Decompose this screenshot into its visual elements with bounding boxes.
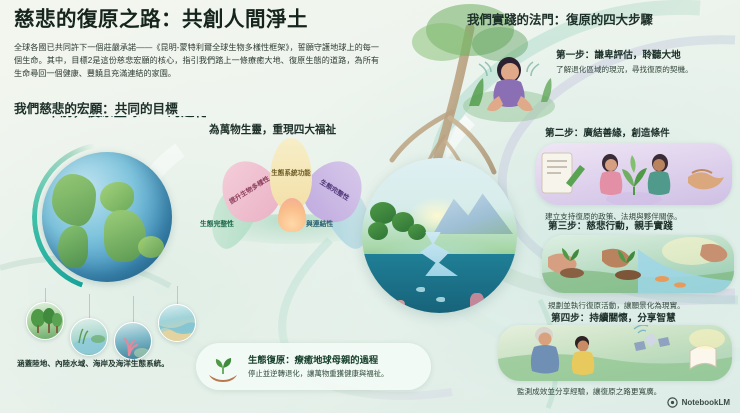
tree-icon [408, 224, 426, 240]
step-2-title: 第二步：廣結善緣，創造條件 [545, 125, 740, 139]
step-1: 第一步：謙卑評估，聆聽大地 了解退化區域的現況，尋找復原的契機。 [556, 47, 740, 75]
forest-cluster [366, 198, 432, 250]
petal-center-label: 生態系統功能 [271, 170, 311, 178]
petal-bottom-right-label: 與連結性 [306, 218, 333, 228]
restored-ecosystem-orb-illustration [362, 158, 517, 313]
restoration-definition-card: 生態復原：療癒地球母親的過程 停止並逆轉退化，讓萬物重獲健康與福祉。 [196, 343, 431, 390]
right-section-heading: 我們實踐的法門：復原的四大步驟 [467, 10, 653, 28]
page-title: 慈悲的復原之路：共創人間淨土 [14, 8, 444, 33]
fish-icon [436, 297, 445, 302]
connector-line [133, 296, 134, 324]
hands-planting-seedlings-river-illustration [542, 235, 734, 293]
step-4-caption: 監測成效並分享經驗，讓復原之路更寬廣。 [517, 383, 740, 397]
goal-curved-text: 2030年前，復原全球30%的退化生態系 [16, 116, 206, 236]
ocean-life [362, 275, 517, 313]
ecosystem-icon-row [18, 300, 208, 358]
petal-left-label: 提升生物多樣性 [228, 175, 272, 206]
woman-listening-to-earth-illustration [463, 40, 555, 122]
step-3-title: 第三步：慈悲行動，親手實踐 [548, 218, 740, 232]
step-4-title: 第四步：持續關懷，分享智慧 [551, 310, 740, 324]
credit-badge: NotebookLM [667, 397, 730, 408]
intro-paragraph: 全球各國已共同許下一個莊嚴承諾——《昆明-蒙特利爾全球生物多樣性框架》，誓願守護… [14, 41, 379, 80]
step-4: 第四步：持續關懷，分享智慧 [551, 310, 740, 324]
step-3: 第三步：慈悲行動，親手實踐 [548, 218, 740, 232]
coral-icon [396, 300, 405, 311]
notebooklm-logo-icon [667, 397, 678, 408]
lotus-core [278, 198, 306, 232]
left-section-heading: 我們慈悲的宏願：共同的目標 [14, 98, 178, 117]
coastal-ecosystem-icon [158, 304, 196, 342]
step-1-title: 第一步：謙卑評估，聆聽大地 [556, 47, 740, 61]
petal-bottom-left-label: 生態完整性 [200, 218, 234, 228]
elder-child-satellite-open-book-illustration [498, 325, 732, 381]
infographic-canvas: 慈悲的復原之路：共創人間淨土 全球各國已共同許下一個莊嚴承諾——《昆明-蒙特利爾… [0, 0, 740, 413]
step-4-subtitle: 監測成效並分享經驗，讓復原之路更寬廣。 [517, 386, 740, 397]
fish-icon [416, 287, 425, 292]
wetland-ecosystem-icon [70, 318, 108, 356]
step-3-caption: 規劃並執行復原活動，讓願景化為現實。 [548, 297, 740, 311]
card-title: 生態復原：療癒地球母親的過程 [248, 354, 388, 366]
credit-label: NotebookLM [682, 398, 730, 407]
ecosystem-caption: 涵蓋陸地、內陸水域、海岸及海洋生態系統。 [17, 358, 192, 370]
connector-line [89, 294, 90, 320]
sprout-in-hand-icon [206, 351, 240, 383]
forest-ecosystem-icon [26, 302, 64, 340]
lotus-heading: 為萬物生靈，重現四大福祉 [209, 122, 336, 137]
petal-right-label: 生態完整性 [318, 179, 350, 203]
coral-icon [378, 295, 390, 311]
tree-icon [368, 222, 388, 240]
goal-text: 2030年前，復原全球30%的退化生態系 [16, 116, 206, 119]
step-1-subtitle: 了解退化區域的現況，尋找復原的契機。 [556, 64, 740, 75]
marine-coral-ecosystem-icon [114, 322, 152, 360]
coral-icon [470, 293, 484, 311]
step-2: 第二步：廣結善緣，創造條件 [545, 125, 740, 139]
header-block: 慈悲的復原之路：共創人間淨土 全球各國已共同許下一個莊嚴承諾——《昆明-蒙特利爾… [14, 8, 444, 80]
card-subtitle: 停止並逆轉退化，讓萬物重獲健康與福祉。 [248, 368, 388, 379]
connector-line [177, 286, 178, 306]
policy-document-handshake-illustration [536, 143, 732, 205]
goal-globe-group: 2030年前，復原全球30%的退化生態系 [18, 120, 198, 295]
